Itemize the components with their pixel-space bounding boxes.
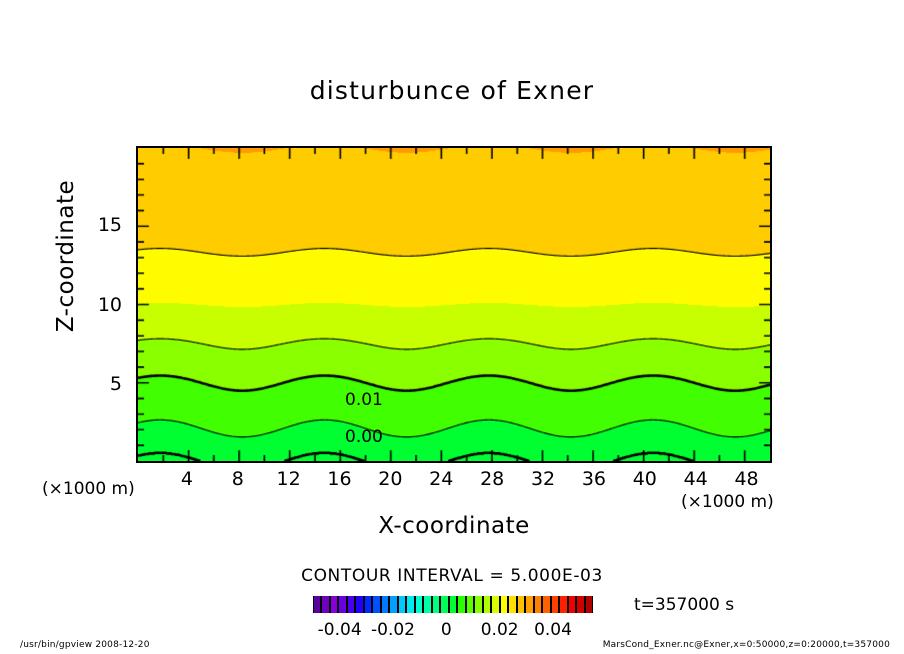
colorbar-cell <box>355 596 363 613</box>
colorbar-cell <box>372 596 380 613</box>
colorbar <box>313 596 593 613</box>
contour-interval-text: CONTOUR INTERVAL = 5.000E-03 <box>0 566 904 586</box>
x-axis-unit-label: (×1000 m) <box>681 492 774 512</box>
x-tick-label: 36 <box>569 468 619 490</box>
colorbar-cell <box>576 596 584 613</box>
time-label: t=357000 s <box>634 595 734 615</box>
colorbar-cell <box>381 596 389 613</box>
colorbar-cell <box>415 596 423 613</box>
contour-inline-label: 0.01 <box>345 390 383 410</box>
colorbar-cell <box>500 596 508 613</box>
colorbar-cell <box>440 596 448 613</box>
colorbar-cell <box>508 596 516 613</box>
colorbar-cell <box>347 596 355 613</box>
x-tick-label: 40 <box>620 468 670 490</box>
colorbar-tick-label: 0.04 <box>518 620 588 640</box>
colorbar-cell <box>517 596 525 613</box>
x-tick-label: 48 <box>722 468 772 490</box>
page-title: disturbunce of Exner <box>0 76 904 105</box>
colorbar-cell <box>313 596 321 613</box>
contour-inline-label: 0.00 <box>345 427 383 447</box>
contour-field-canvas <box>138 148 770 461</box>
y-tick-label: 10 <box>62 294 122 316</box>
colorbar-cell <box>449 596 457 613</box>
contour-plot-area <box>136 146 772 463</box>
colorbar-cell <box>389 596 397 613</box>
colorbar-cell <box>483 596 491 613</box>
colorbar-cell <box>542 596 550 613</box>
colorbar-cell <box>423 596 431 613</box>
x-tick-label: 16 <box>315 468 365 490</box>
y-tick-label: 5 <box>62 373 122 395</box>
x-tick-label: 12 <box>264 468 314 490</box>
colorbar-cell <box>474 596 482 613</box>
colorbar-cell <box>551 596 559 613</box>
colorbar-cell <box>466 596 474 613</box>
colorbar-cell <box>525 596 533 613</box>
x-tick-label: 44 <box>671 468 721 490</box>
colorbar-cell <box>321 596 329 613</box>
colorbar-cell <box>364 596 372 613</box>
y-axis-title: Z-coordinate <box>53 126 79 386</box>
footer-left-text: /usr/bin/gpview 2008-12-20 <box>20 640 150 650</box>
x-tick-label: 24 <box>416 468 466 490</box>
x-axis-title: X-coordinate <box>136 513 772 539</box>
y-axis-unit-label: (×1000 m) <box>42 479 135 499</box>
y-tick-label: 15 <box>62 214 122 236</box>
colorbar-cell <box>330 596 338 613</box>
x-tick-label: 20 <box>365 468 415 490</box>
x-tick-label: 4 <box>162 468 212 490</box>
colorbar-cell <box>406 596 414 613</box>
colorbar-cell <box>457 596 465 613</box>
colorbar-cell <box>338 596 346 613</box>
colorbar-cell <box>398 596 406 613</box>
colorbar-cell <box>559 596 567 613</box>
x-tick-label: 8 <box>213 468 263 490</box>
colorbar-cell <box>491 596 499 613</box>
colorbar-cell <box>534 596 542 613</box>
colorbar-cell <box>585 596 593 613</box>
footer-right-text: MarsCond_Exner.nc@Exner,x=0:50000,z=0:20… <box>603 640 890 650</box>
x-tick-label: 32 <box>518 468 568 490</box>
colorbar-cell <box>432 596 440 613</box>
colorbar-cell <box>568 596 576 613</box>
x-tick-label: 28 <box>467 468 517 490</box>
